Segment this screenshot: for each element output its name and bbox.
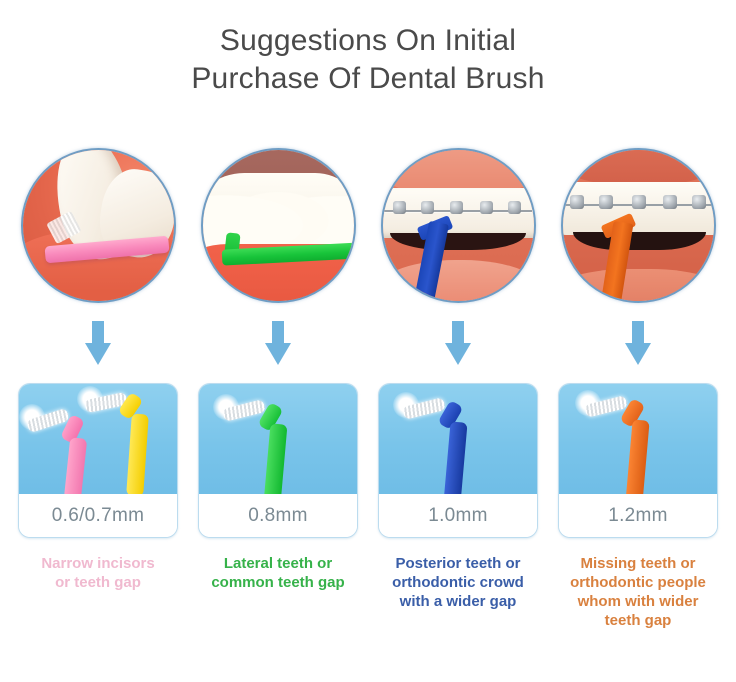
caption-line: orthodontic crowd [372,573,544,592]
size-label-2: 0.8mm [248,505,308,527]
product-card-3[interactable]: 1.0mm [378,383,538,538]
caption-4: Missing teeth or orthodontic people whom… [552,554,724,630]
column-3: 1.0mm Posterior teeth or orthodontic cro… [378,148,538,668]
caption-line: Narrow incisors [12,554,184,573]
caption-line: common teeth gap [192,573,364,592]
caption-line: or teeth gap [12,573,184,592]
pink-brush-on-narrow-incisor-photo [21,148,176,303]
column-4: 1.2mm Missing teeth or orthodontic peopl… [558,148,718,668]
caption-line: Posterior teeth or [372,554,544,573]
orange-interdental-brush [559,384,717,496]
size-label-3: 1.0mm [428,505,488,527]
size-label-1: 0.6/0.7mm [52,505,144,527]
size-strip-3: 1.0mm [379,494,537,537]
size-label-4: 1.2mm [608,505,668,527]
caption-line: Lateral teeth or [192,554,364,573]
blue-interdental-brush [379,384,537,496]
green-brush-in-tooth-gap-photo [201,148,356,303]
size-strip-4: 1.2mm [559,494,717,537]
down-arrow-1 [85,321,111,367]
caption-3: Posterior teeth or orthodontic crowd wit… [372,554,544,611]
product-card-4[interactable]: 1.2mm [558,383,718,538]
infographic-page: Suggestions On Initial Purchase Of Denta… [0,0,736,682]
size-strip-2: 0.8mm [199,494,357,537]
title-line-2: Purchase Of Dental Brush [0,60,736,98]
down-arrow-2 [265,321,291,367]
caption-1: Narrow incisors or teeth gap [12,554,184,592]
columns-container: 0.6/0.7mm Narrow incisors or teeth gap [0,148,736,668]
down-arrow-3 [445,321,471,367]
column-2: 0.8mm Lateral teeth or common teeth gap [198,148,358,668]
green-interdental-brush [199,384,357,496]
orange-brush-with-braces-photo [561,148,716,303]
caption-2: Lateral teeth or common teeth gap [192,554,364,592]
product-card-2[interactable]: 0.8mm [198,383,358,538]
caption-line: teeth gap [552,611,724,630]
column-1: 0.6/0.7mm Narrow incisors or teeth gap [18,148,178,668]
product-card-1[interactable]: 0.6/0.7mm [18,383,178,538]
page-title: Suggestions On Initial Purchase Of Denta… [0,22,736,98]
caption-line: orthodontic people [552,573,724,592]
size-strip-1: 0.6/0.7mm [19,494,177,537]
caption-line: whom with wider [552,592,724,611]
down-arrow-4 [625,321,651,367]
caption-line: with a wider gap [372,592,544,611]
caption-line: Missing teeth or [552,554,724,573]
blue-brush-with-braces-photo [381,148,536,303]
title-line-1: Suggestions On Initial [0,22,736,60]
pink-and-yellow-interdental-brush [19,384,177,496]
